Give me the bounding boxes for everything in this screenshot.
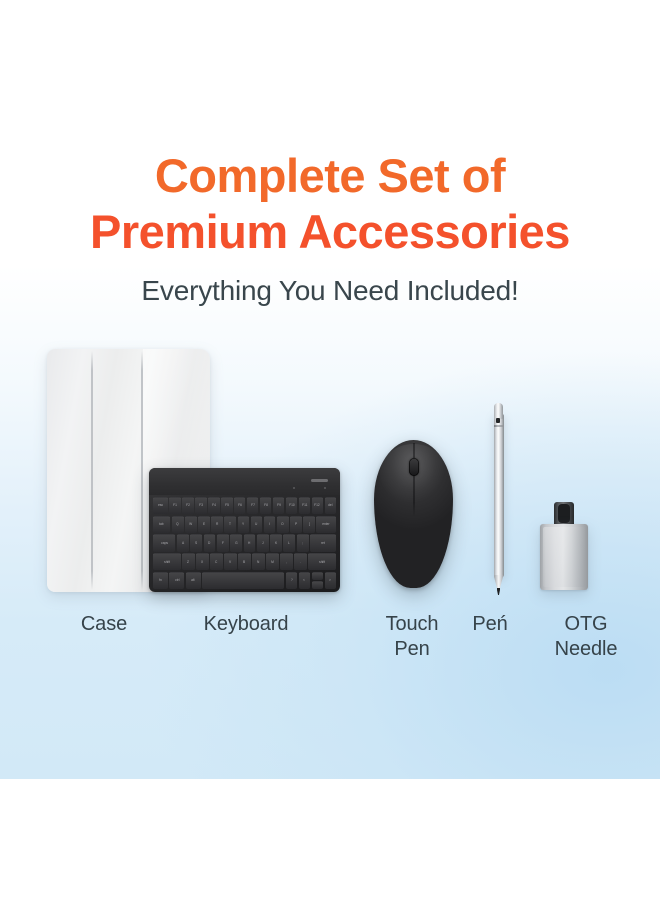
key-legend: esc: [158, 504, 163, 507]
key-fn: fn: [153, 572, 168, 589]
key-legend: ;: [302, 542, 303, 545]
key-tab: tab: [153, 516, 170, 533]
key-ctrl: ctrl: [169, 572, 184, 589]
label-keyboard: Keyboard: [176, 612, 316, 637]
key-s: S: [190, 534, 202, 551]
product-poster: Complete Set of Premium Accessories Ever…: [0, 0, 660, 900]
key-legend: T: [229, 523, 231, 526]
key-i: I: [264, 516, 276, 533]
case-fold-line-1: [91, 351, 93, 590]
key-legend: X: [201, 561, 203, 564]
key-legend: O: [281, 523, 284, 526]
keyboard-power-switch: [311, 479, 328, 482]
stylus-pen-icon: [491, 400, 506, 595]
key-f2: F2: [182, 497, 193, 514]
key-f8: F8: [260, 497, 271, 514]
key-d: D: [204, 534, 216, 551]
key-legend: F10: [289, 504, 295, 507]
key-legend: F11: [302, 504, 307, 507]
case-fold-line-2: [141, 351, 143, 590]
key-period: .: [294, 553, 307, 570]
key-shift-right: shift: [308, 553, 336, 570]
key-legend: F1: [173, 504, 177, 507]
key-j: J: [257, 534, 269, 551]
mouse-icon: [374, 440, 453, 588]
label-touch-pen-line-1: Touch: [358, 612, 466, 637]
otg-connector-inner: [558, 504, 570, 523]
key-legend: U: [255, 523, 257, 526]
key-legend: <: [303, 579, 305, 582]
key-legend: shift: [319, 561, 325, 564]
key-legend: F8: [264, 504, 268, 507]
key-p: P: [290, 516, 302, 533]
keyboard-row-4: shift Z X C V B N M , . shift: [153, 553, 336, 570]
key-y: Y: [238, 516, 250, 533]
key-f4: F4: [208, 497, 219, 514]
key-legend: R: [216, 523, 218, 526]
key-legend: G: [235, 542, 238, 545]
key-legend: ?: [291, 579, 293, 582]
key-legend: caps: [161, 542, 168, 545]
key-legend: N: [257, 561, 259, 564]
key-arrow-down: [312, 581, 323, 589]
label-touch-pen: Touch Pen: [358, 612, 466, 662]
key-arrow-up: [312, 572, 323, 580]
key-t: T: [224, 516, 236, 533]
key-a: A: [177, 534, 189, 551]
key-c: C: [210, 553, 223, 570]
pen-cap: [494, 403, 503, 419]
key-f6: F6: [234, 497, 245, 514]
key-legend: enter: [322, 523, 329, 526]
key-legend: W: [189, 523, 192, 526]
key-legend: J: [262, 542, 264, 545]
label-otg-needle-line-2: Needle: [527, 637, 645, 662]
product-labels: Case Keyboard Touch Pen Peń OTG Needle: [0, 612, 660, 682]
label-otg-needle-line-1: OTG: [527, 612, 645, 637]
key-u: U: [251, 516, 263, 533]
key-legend: F12: [315, 504, 321, 507]
key-delete: del: [325, 497, 336, 514]
key-legend: H: [248, 542, 250, 545]
key-g: G: [230, 534, 242, 551]
key-legend: C: [215, 561, 217, 564]
otg-body-sheen: [543, 527, 585, 587]
keyboard-row-2: tab Q W E R T Y U I O P [ enter: [153, 516, 336, 533]
key-legend: >: [329, 579, 331, 582]
key-legend: [: [309, 523, 310, 526]
key-return: ret: [310, 534, 336, 551]
key-n: N: [252, 553, 265, 570]
key-k: K: [270, 534, 282, 551]
mouse-button-split: [413, 443, 414, 517]
key-legend: B: [243, 561, 245, 564]
keyboard-bezel: [149, 468, 340, 495]
key-v: V: [224, 553, 237, 570]
key-legend: M: [271, 561, 274, 564]
key-arrow-vertical-stack: [312, 572, 323, 589]
key-b: B: [238, 553, 251, 570]
key-bracket-left: [: [303, 516, 315, 533]
key-legend: A: [182, 542, 184, 545]
key-arrow-up-slash: ?: [286, 572, 297, 589]
key-legend: F: [222, 542, 224, 545]
key-f7: F7: [247, 497, 258, 514]
key-legend: F2: [186, 504, 190, 507]
key-legend: V: [229, 561, 231, 564]
key-comma: ,: [280, 553, 293, 570]
mouse-body: [374, 440, 453, 588]
keyboard-row-1: esc F1 F2 F3 F4 F5 F6 F7 F8 F9 F10 F11 F…: [153, 497, 336, 514]
key-r: R: [211, 516, 223, 533]
key-legend: I: [269, 523, 270, 526]
key-f3: F3: [195, 497, 206, 514]
key-legend: F9: [277, 504, 281, 507]
key-legend: Z: [187, 561, 189, 564]
label-case: Case: [48, 612, 160, 637]
product-stage: esc F1 F2 F3 F4 F5 F6 F7 F8 F9 F10 F11 F…: [0, 0, 660, 900]
key-f12: F12: [312, 497, 323, 514]
pen-ring: [494, 425, 504, 427]
key-capslock: caps: [153, 534, 175, 551]
key-legend: .: [300, 561, 301, 564]
label-pen: Peń: [455, 612, 525, 637]
key-legend: S: [195, 542, 197, 545]
key-z: Z: [182, 553, 195, 570]
mouse-scroll-wheel: [409, 458, 419, 476]
key-f9: F9: [273, 497, 284, 514]
key-legend: ctrl: [175, 579, 179, 582]
key-legend: shift: [164, 561, 170, 564]
key-legend: F6: [238, 504, 242, 507]
key-legend: K: [275, 542, 277, 545]
key-legend: ret: [321, 542, 325, 545]
key-w: W: [185, 516, 197, 533]
keyboard-keys: esc F1 F2 F3 F4 F5 F6 F7 F8 F9 F10 F11 F…: [153, 497, 336, 589]
label-otg-needle: OTG Needle: [527, 612, 645, 662]
key-f11: F11: [299, 497, 310, 514]
label-touch-pen-line-2: Pen: [358, 637, 466, 662]
key-legend: D: [208, 542, 210, 545]
key-shift-left: shift: [153, 553, 181, 570]
keyboard-icon: esc F1 F2 F3 F4 F5 F6 F7 F8 F9 F10 F11 F…: [149, 468, 340, 592]
key-f10: F10: [286, 497, 297, 514]
key-legend: tab: [159, 523, 163, 526]
pen-button: [496, 418, 499, 423]
key-legend: L: [288, 542, 290, 545]
key-h: H: [244, 534, 256, 551]
key-legend: F4: [212, 504, 216, 507]
key-legend: alt: [191, 579, 194, 582]
key-legend: ,: [286, 561, 287, 564]
key-legend: F5: [225, 504, 229, 507]
key-space: [202, 572, 284, 589]
keyboard-body: esc F1 F2 F3 F4 F5 F6 F7 F8 F9 F10 F11 F…: [149, 468, 340, 592]
key-legend: F3: [199, 504, 203, 507]
otg-adapter-icon: [540, 502, 588, 590]
otg-body: [540, 524, 588, 590]
key-f5: F5: [221, 497, 232, 514]
key-legend: del: [328, 504, 332, 507]
key-e: E: [198, 516, 210, 533]
keyboard-row-3: caps A S D F G H J K L ; ret: [153, 534, 336, 551]
pen-nib: [497, 588, 501, 595]
key-f1: F1: [169, 497, 180, 514]
key-legend: P: [295, 523, 297, 526]
keyboard-row-5: fn ctrl alt ? < >: [153, 572, 336, 589]
key-f: F: [217, 534, 229, 551]
keyboard-led-1: [293, 487, 295, 489]
key-alt: alt: [186, 572, 201, 589]
key-legend: F7: [251, 504, 255, 507]
pen-tip: [494, 575, 504, 589]
pen-shaft: [494, 414, 504, 577]
key-arrow-right: >: [325, 572, 336, 589]
key-arrow-left: <: [299, 572, 310, 589]
key-o: O: [277, 516, 289, 533]
key-semicolon: ;: [297, 534, 309, 551]
key-l: L: [283, 534, 295, 551]
key-x: X: [196, 553, 209, 570]
key-enter: enter: [316, 516, 336, 533]
key-legend: Q: [176, 523, 179, 526]
key-esc: esc: [153, 497, 168, 514]
key-legend: fn: [159, 579, 162, 582]
key-legend: E: [203, 523, 205, 526]
keyboard-led-2: [324, 487, 326, 489]
key-q: Q: [172, 516, 184, 533]
key-m: M: [266, 553, 279, 570]
key-legend: Y: [242, 523, 244, 526]
